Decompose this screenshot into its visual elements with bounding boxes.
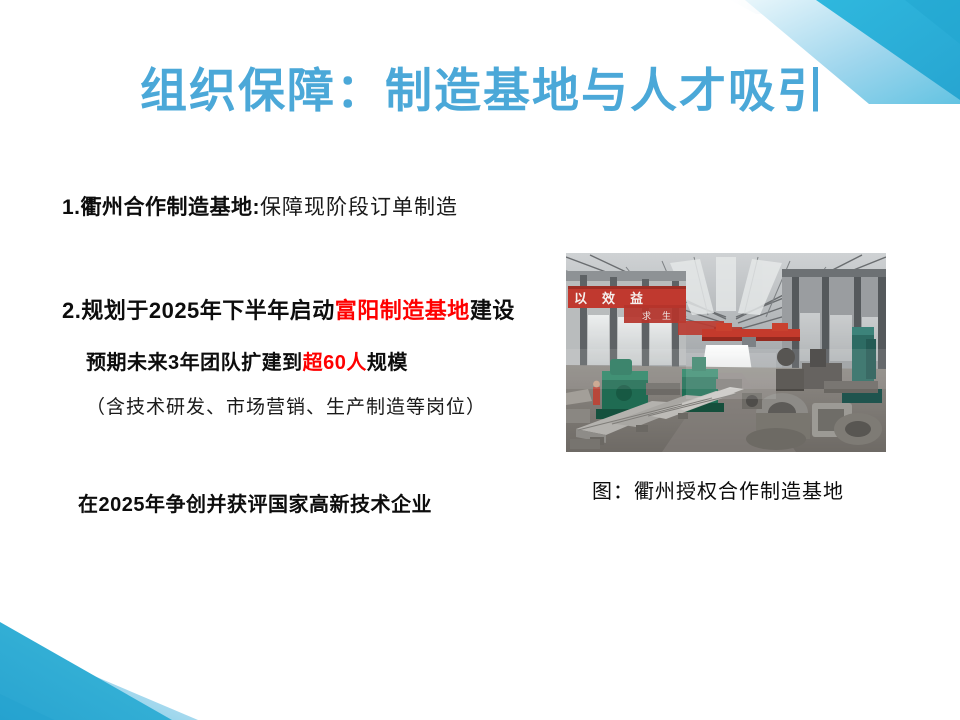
slide-canvas: 组织保障：制造基地与人才吸引 1.衢州合作制造基地:保障现阶段订单制造 2.规划… <box>0 0 960 720</box>
bullet-line-1-normal: 保障现阶段订单制造 <box>260 196 458 219</box>
svg-text:益: 益 <box>630 291 643 307</box>
bullet-line-3-suffix: 规模 <box>367 352 408 374</box>
bullet-line-2: 2.规划于2025年下半年启动富阳制造基地建设 <box>62 297 515 326</box>
bullet-line-1: 1.衢州合作制造基地:保障现阶段订单制造 <box>62 194 458 221</box>
bullet-line-5: 在2025年争创并获评国家高新技术企业 <box>78 492 432 518</box>
bullet-line-1-bold: 1.衢州合作制造基地: <box>62 196 260 219</box>
svg-text:效: 效 <box>602 291 616 307</box>
photo-caption: 图：衢州授权合作制造基地 <box>592 475 844 504</box>
factory-photo: 以 效 益 求 生 <box>566 253 886 452</box>
bullet-line-3-prefix: 预期未来3年团队扩建到 <box>86 352 303 374</box>
bullet-line-2-suffix: 建设 <box>470 298 515 323</box>
bullet-line-3-highlight: 超60人 <box>303 352 367 374</box>
bullet-line-4: （含技术研发、市场营销、生产制造等岗位） <box>86 396 486 421</box>
bullet-line-2-highlight: 富阳制造基地 <box>335 298 470 323</box>
bullet-line-3: 预期未来3年团队扩建到超60人规模 <box>86 350 408 376</box>
svg-text:以: 以 <box>574 292 587 307</box>
svg-text:求: 求 <box>642 310 651 322</box>
bullet-line-2-prefix: 2.规划于2025年下半年启动 <box>62 298 335 323</box>
svg-text:生: 生 <box>662 310 671 322</box>
